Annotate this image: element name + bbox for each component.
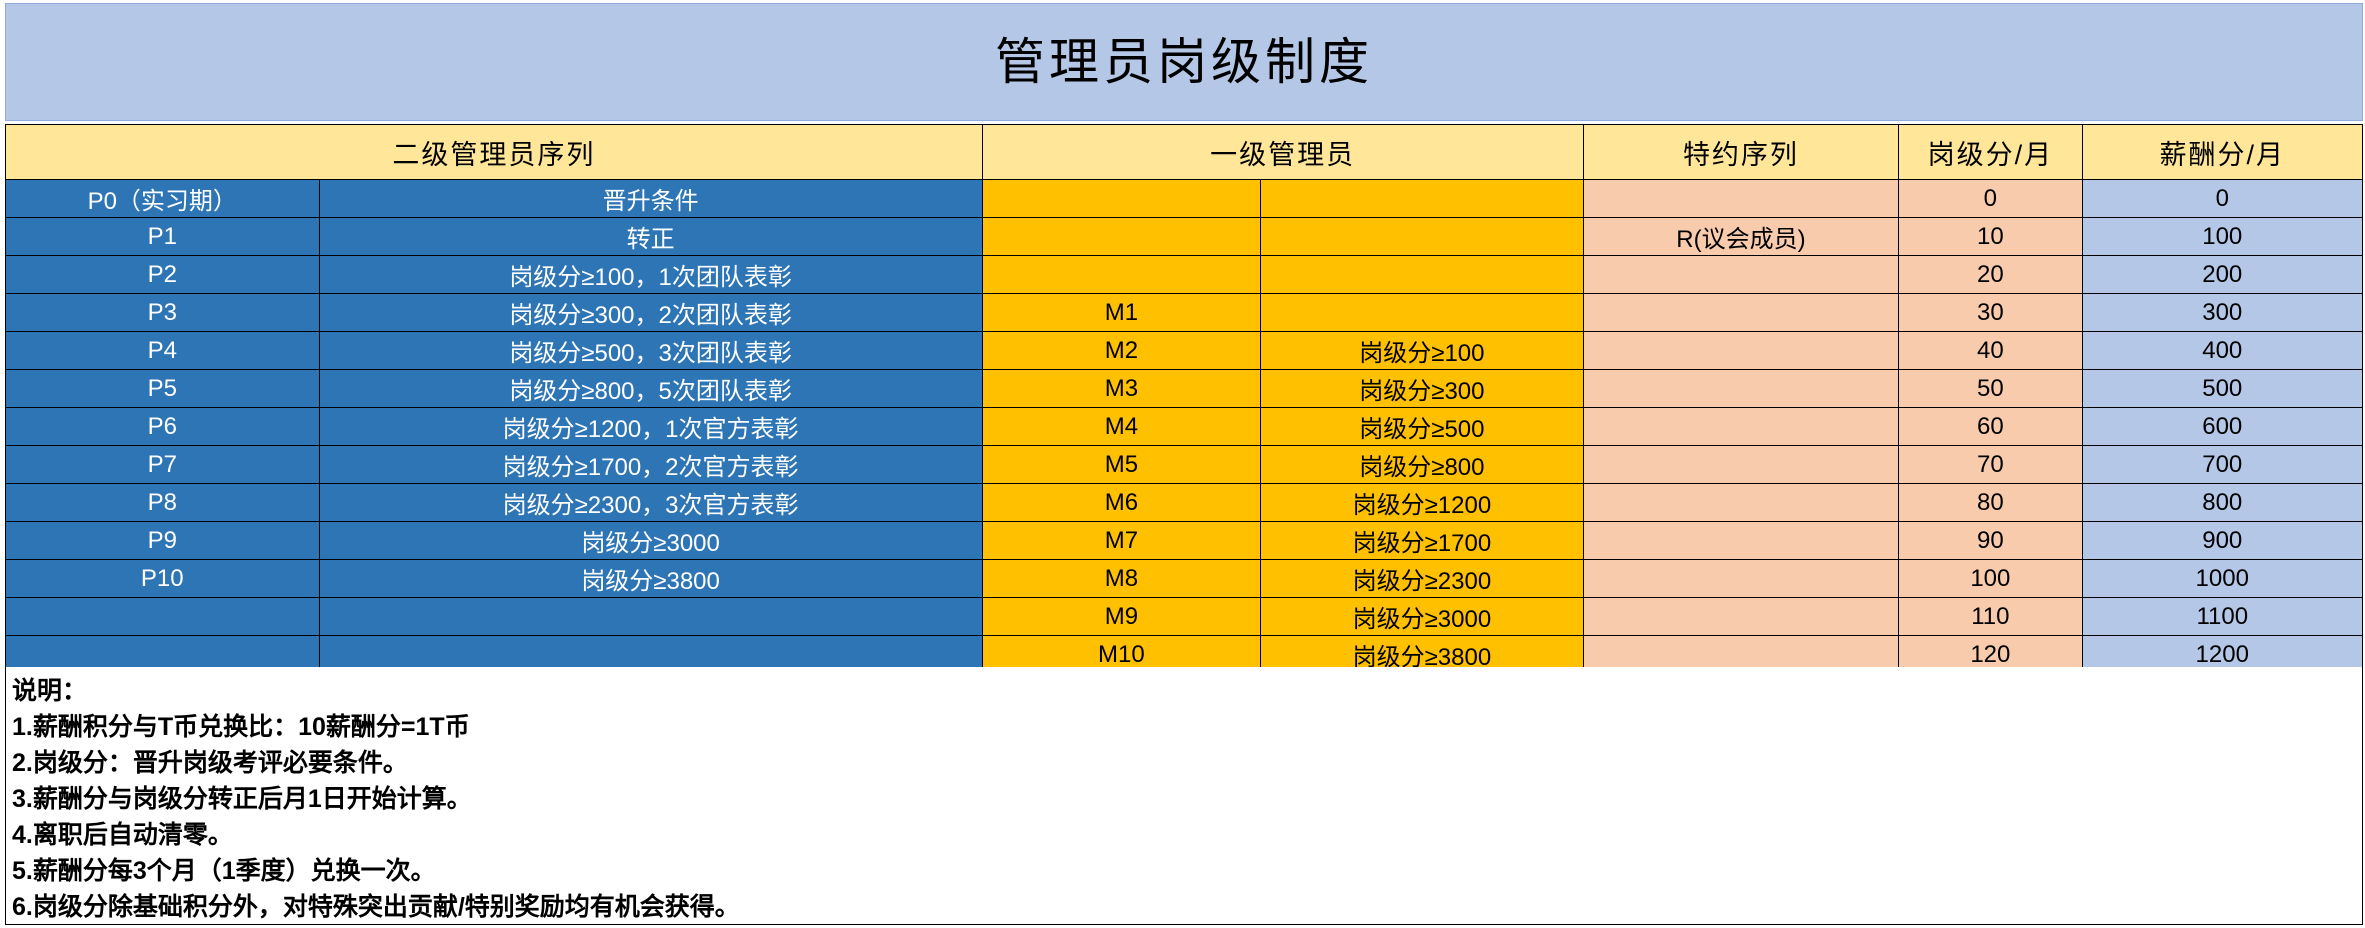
cell-m-condition: 岗级分≥800 (1261, 446, 1584, 484)
cell-p-level: P9 (6, 522, 320, 560)
cell-m-level: M5 (982, 446, 1260, 484)
cell-special (1583, 408, 1899, 446)
cell-grade-points: 0 (1899, 180, 2082, 218)
cell-p-condition: 晋升条件 (319, 180, 982, 218)
notes-heading: 说明： (12, 673, 2362, 709)
cell-m-level: M7 (982, 522, 1260, 560)
cell-m-condition (1261, 294, 1584, 332)
cell-p-level: P5 (6, 370, 320, 408)
cell-special (1583, 598, 1899, 636)
cell-m-level: M6 (982, 484, 1260, 522)
cell-m-condition: 岗级分≥500 (1261, 408, 1584, 446)
table-row: P9 岗级分≥3000 M7 岗级分≥1700 90 900 (6, 522, 2363, 560)
cell-special (1583, 256, 1899, 294)
cell-p-level: P6 (6, 408, 320, 446)
cell-special (1583, 560, 1899, 598)
cell-salary-points: 200 (2082, 256, 2363, 294)
cell-special (1583, 484, 1899, 522)
cell-grade-points: 70 (1899, 446, 2082, 484)
header-grade-points: 岗级分/月 (1899, 125, 2082, 180)
cell-p-level: P3 (6, 294, 320, 332)
table-row: P2 岗级分≥100，1次团队表彰 20 200 (6, 256, 2363, 294)
cell-p-level: P1 (6, 218, 320, 256)
cell-special (1583, 370, 1899, 408)
cell-salary-points: 800 (2082, 484, 2363, 522)
table-row: P5 岗级分≥800，5次团队表彰 M3 岗级分≥300 50 500 (6, 370, 2363, 408)
cell-p-condition: 转正 (319, 218, 982, 256)
cell-p-level: P4 (6, 332, 320, 370)
cell-p-condition: 岗级分≥3800 (319, 560, 982, 598)
cell-p-condition: 岗级分≥100，1次团队表彰 (319, 256, 982, 294)
cell-m-condition: 岗级分≥100 (1261, 332, 1584, 370)
cell-m-level: M9 (982, 598, 1260, 636)
note-item-1: 1.薪酬积分与T币兑换比：10薪酬分=1T币 (12, 709, 2362, 745)
cell-grade-points: 110 (1899, 598, 2082, 636)
cell-m-condition (1261, 218, 1584, 256)
header-secondary-series: 二级管理员序列 (6, 125, 983, 180)
table-body: P0（实习期） 晋升条件 0 0 P1 转正 R(议会成员) 10 100 P2… (6, 180, 2363, 674)
note-item-4: 4.离职后自动清零。 (12, 817, 2362, 853)
cell-m-condition: 岗级分≥1700 (1261, 522, 1584, 560)
cell-p-level (6, 598, 320, 636)
cell-special (1583, 522, 1899, 560)
cell-salary-points: 1000 (2082, 560, 2363, 598)
cell-salary-points: 400 (2082, 332, 2363, 370)
note-item-5: 5.薪酬分每3个月（1季度）兑换一次。 (12, 853, 2362, 889)
cell-p-condition: 岗级分≥500，3次团队表彰 (319, 332, 982, 370)
cell-p-level: P10 (6, 560, 320, 598)
grade-system-table: 二级管理员序列 一级管理员 特约序列 岗级分/月 薪酬分/月 P0（实习期） 晋… (5, 124, 2363, 674)
cell-m-level: M8 (982, 560, 1260, 598)
cell-grade-points: 20 (1899, 256, 2082, 294)
table-row: P3 岗级分≥300，2次团队表彰 M1 30 300 (6, 294, 2363, 332)
cell-p-condition: 岗级分≥300，2次团队表彰 (319, 294, 982, 332)
cell-grade-points: 50 (1899, 370, 2082, 408)
table-row: P6 岗级分≥1200，1次官方表彰 M4 岗级分≥500 60 600 (6, 408, 2363, 446)
cell-grade-points: 40 (1899, 332, 2082, 370)
cell-m-level (982, 256, 1260, 294)
cell-salary-points: 900 (2082, 522, 2363, 560)
table-row: P4 岗级分≥500，3次团队表彰 M2 岗级分≥100 40 400 (6, 332, 2363, 370)
cell-m-condition (1261, 180, 1584, 218)
table-row: P1 转正 R(议会成员) 10 100 (6, 218, 2363, 256)
cell-salary-points: 700 (2082, 446, 2363, 484)
cell-salary-points: 600 (2082, 408, 2363, 446)
cell-p-condition: 岗级分≥1200，1次官方表彰 (319, 408, 982, 446)
cell-special (1583, 332, 1899, 370)
cell-p-condition: 岗级分≥3000 (319, 522, 982, 560)
header-special-series: 特约序列 (1583, 125, 1899, 180)
header-primary-manager: 一级管理员 (982, 125, 1583, 180)
cell-m-level: M1 (982, 294, 1260, 332)
cell-salary-points: 300 (2082, 294, 2363, 332)
cell-special (1583, 446, 1899, 484)
cell-grade-points: 10 (1899, 218, 2082, 256)
cell-p-condition: 岗级分≥800，5次团队表彰 (319, 370, 982, 408)
cell-grade-points: 100 (1899, 560, 2082, 598)
cell-m-condition: 岗级分≥2300 (1261, 560, 1584, 598)
cell-grade-points: 30 (1899, 294, 2082, 332)
cell-p-level: P0（实习期） (6, 180, 320, 218)
page-title: 管理员岗级制度 (995, 37, 1373, 87)
cell-special: R(议会成员) (1583, 218, 1899, 256)
cell-m-condition: 岗级分≥3000 (1261, 598, 1584, 636)
table-row: P0（实习期） 晋升条件 0 0 (6, 180, 2363, 218)
cell-m-condition: 岗级分≥300 (1261, 370, 1584, 408)
cell-grade-points: 90 (1899, 522, 2082, 560)
table-row: P10 岗级分≥3800 M8 岗级分≥2300 100 1000 (6, 560, 2363, 598)
cell-salary-points: 0 (2082, 180, 2363, 218)
cell-m-level: M2 (982, 332, 1260, 370)
cell-special (1583, 180, 1899, 218)
header-salary-points: 薪酬分/月 (2082, 125, 2363, 180)
cell-m-level: M4 (982, 408, 1260, 446)
notes-block: 说明： 1.薪酬积分与T币兑换比：10薪酬分=1T币 2.岗级分：晋升岗级考评必… (5, 667, 2363, 925)
cell-p-condition (319, 598, 982, 636)
table-row: P8 岗级分≥2300，3次官方表彰 M6 岗级分≥1200 80 800 (6, 484, 2363, 522)
note-item-3: 3.薪酬分与岗级分转正后月1日开始计算。 (12, 781, 2362, 817)
cell-p-level: P2 (6, 256, 320, 294)
cell-p-level: P7 (6, 446, 320, 484)
cell-m-condition (1261, 256, 1584, 294)
table-header-row: 二级管理员序列 一级管理员 特约序列 岗级分/月 薪酬分/月 (6, 125, 2363, 180)
cell-m-level (982, 180, 1260, 218)
cell-grade-points: 60 (1899, 408, 2082, 446)
cell-salary-points: 500 (2082, 370, 2363, 408)
cell-p-condition: 岗级分≥1700，2次官方表彰 (319, 446, 982, 484)
cell-special (1583, 294, 1899, 332)
cell-m-condition: 岗级分≥1200 (1261, 484, 1584, 522)
table-row: M9 岗级分≥3000 110 1100 (6, 598, 2363, 636)
title-banner: 管理员岗级制度 (5, 3, 2363, 121)
cell-m-level (982, 218, 1260, 256)
cell-p-level: P8 (6, 484, 320, 522)
cell-salary-points: 100 (2082, 218, 2363, 256)
cell-salary-points: 1100 (2082, 598, 2363, 636)
cell-grade-points: 80 (1899, 484, 2082, 522)
table-row: P7 岗级分≥1700，2次官方表彰 M5 岗级分≥800 70 700 (6, 446, 2363, 484)
cell-p-condition: 岗级分≥2300，3次官方表彰 (319, 484, 982, 522)
spreadsheet-canvas: 管理员岗级制度 二级管理员序列 一级管理员 特约序列 岗级分/月 薪酬分/月 P… (0, 0, 2365, 928)
cell-m-level: M3 (982, 370, 1260, 408)
note-item-6: 6.岗级分除基础积分外，对特殊突出贡献/特别奖励均有机会获得。 (12, 889, 2362, 925)
note-item-2: 2.岗级分：晋升岗级考评必要条件。 (12, 745, 2362, 781)
